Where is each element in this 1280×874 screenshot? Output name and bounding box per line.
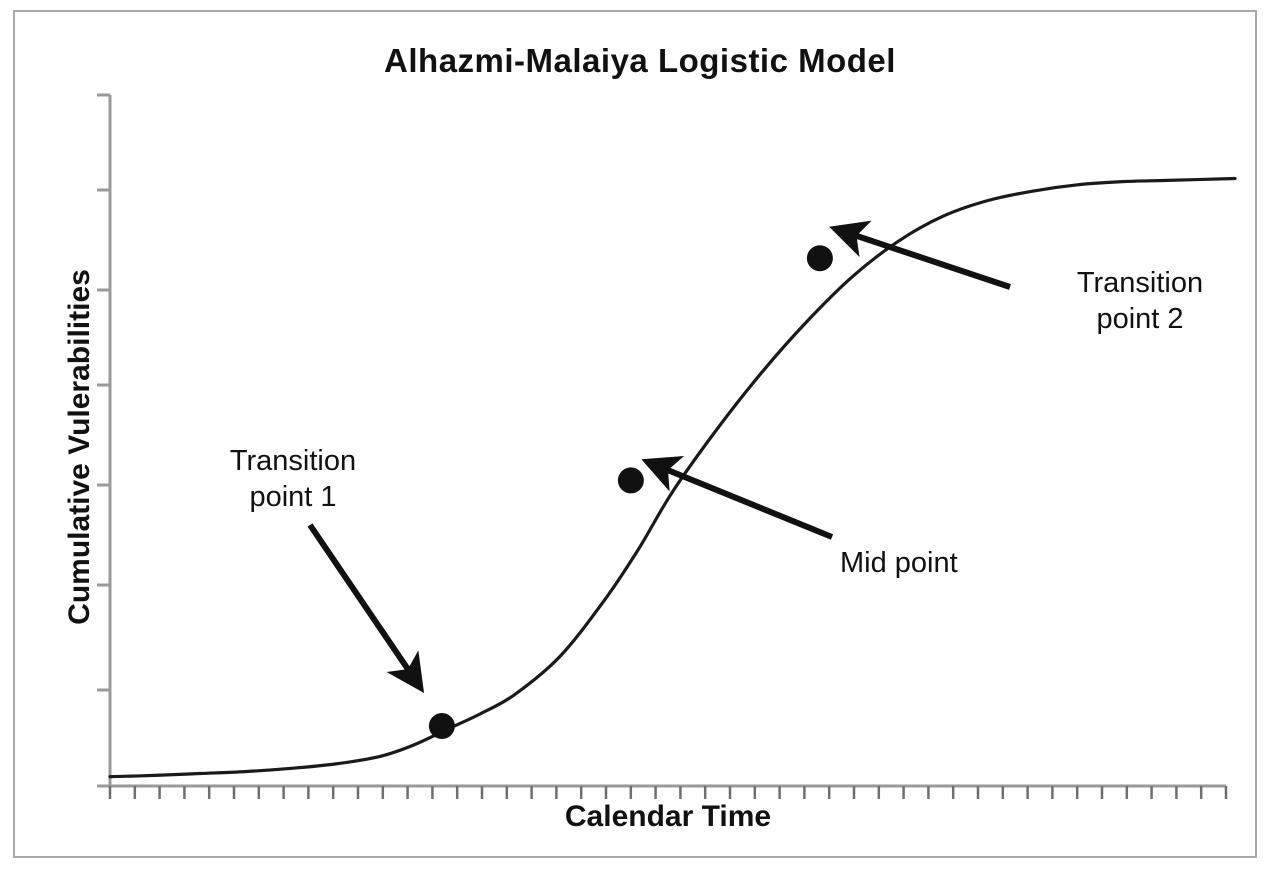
annotation-transition-point-1: Transition point 1 bbox=[203, 443, 383, 516]
y-axis-ticks bbox=[97, 95, 110, 786]
transition-point-2-dot bbox=[807, 245, 833, 271]
annotation-transition-point-2-line1: Transition bbox=[1055, 265, 1225, 301]
x-axis-label: Calendar Time bbox=[110, 800, 1226, 834]
annotation-transition-point-1-line2: point 1 bbox=[203, 479, 383, 515]
arrow-transition-point-1 bbox=[310, 525, 420, 687]
annotation-transition-point-2: Transition point 2 bbox=[1055, 265, 1225, 338]
mid-point-dot bbox=[618, 467, 644, 493]
annotation-transition-point-1-line1: Transition bbox=[203, 443, 383, 479]
annotation-mid-point-line1: Mid point bbox=[840, 545, 958, 581]
figure-root: Alhazmi-Malaiya Logistic Model Cumulativ… bbox=[0, 0, 1280, 874]
x-axis-ticks bbox=[110, 786, 1226, 799]
annotation-mid-point: Mid point bbox=[840, 545, 958, 581]
chart-title: Alhazmi-Malaiya Logistic Model bbox=[0, 42, 1280, 80]
arrow-transition-point-2 bbox=[836, 229, 1010, 287]
annotation-transition-point-2-line2: point 2 bbox=[1055, 301, 1225, 337]
chart-canvas bbox=[0, 0, 1280, 874]
transition-point-1-dot bbox=[429, 713, 455, 739]
arrow-mid-point bbox=[648, 462, 832, 537]
y-axis-label: Cumulative Vulerabilities bbox=[63, 167, 97, 727]
